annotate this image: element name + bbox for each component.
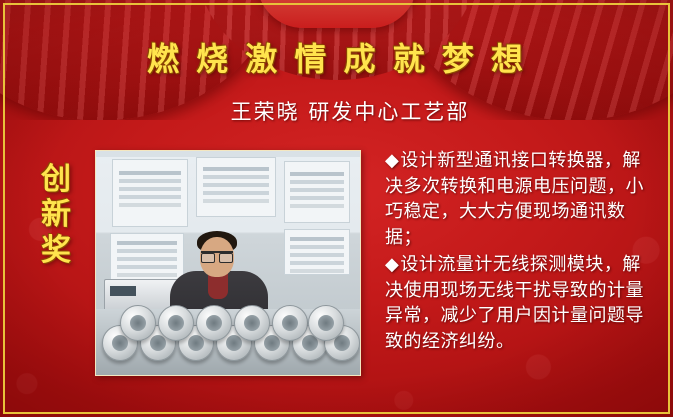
diamond-bullet-icon: ◆	[385, 254, 399, 275]
portrait-photo	[96, 151, 360, 375]
wall-poster	[284, 229, 350, 275]
wall-poster	[196, 157, 276, 217]
achievement-text: 设计新型通讯接口转换器，解决多次转换和电源电压问题，小巧稳定，大大方便现场通讯数…	[385, 150, 644, 248]
achievement-item: ◆设计新型通讯接口转换器，解决多次转换和电源电压问题，小巧稳定，大大方便现场通讯…	[385, 148, 657, 250]
award-slide: 燃 烧 激 情 成 就 梦 想 王荣晓 研发中心工艺部 创 新 奖	[0, 0, 673, 417]
wall-poster	[112, 159, 188, 227]
slide-title: 燃 烧 激 情 成 就 梦 想	[0, 34, 673, 80]
machined-part	[308, 305, 344, 341]
person-glasses	[201, 251, 233, 261]
machined-part	[158, 305, 194, 341]
achievement-item: ◆设计流量计无线探测模块，解决使用现场无线干扰导致的计量异常，减少了用户因计量问…	[385, 252, 657, 354]
wall-poster	[284, 161, 350, 223]
achievements-list: ◆设计新型通讯接口转换器，解决多次转换和电源电压问题，小巧稳定，大大方便现场通讯…	[385, 148, 657, 356]
wall-poster	[110, 233, 184, 281]
machined-part	[196, 305, 232, 341]
award-label-char-1: 创	[36, 162, 76, 197]
parts-table	[96, 309, 360, 375]
diamond-bullet-icon: ◆	[385, 150, 399, 171]
achievement-text: 设计流量计无线探测模块，解决使用现场无线干扰导致的计量异常，减少了用户因计量问题…	[385, 254, 644, 352]
award-label-char-2: 新	[36, 197, 76, 232]
award-label-vertical: 创 新 奖	[36, 162, 76, 268]
machined-part	[120, 305, 156, 341]
award-label-char-3: 奖	[36, 233, 76, 268]
photo-frame	[95, 150, 361, 376]
machined-part	[272, 305, 308, 341]
presenter-name-and-department: 王荣晓 研发中心工艺部	[120, 96, 580, 126]
machined-part	[234, 305, 270, 341]
